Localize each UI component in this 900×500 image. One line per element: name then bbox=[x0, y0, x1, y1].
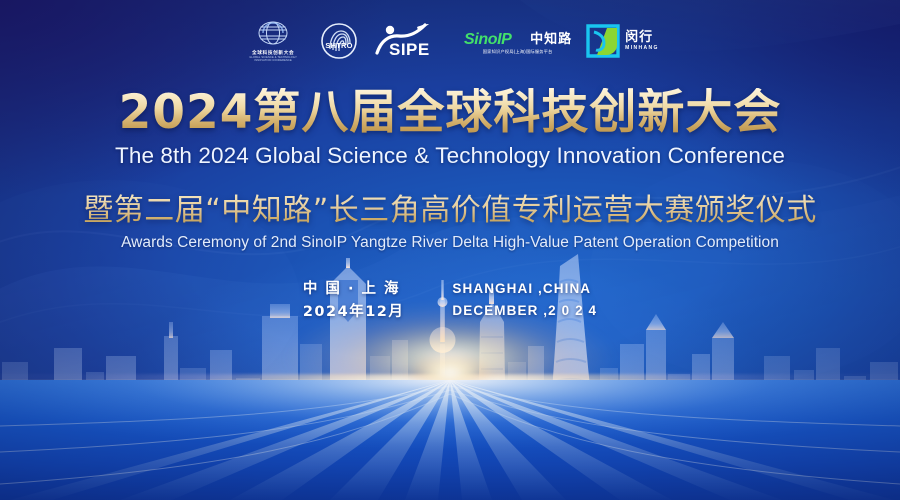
globe-icon bbox=[255, 19, 291, 49]
logo-sipe-wordmark: SIPE bbox=[389, 40, 430, 59]
logo-minhang-label-en: MINHANG bbox=[625, 45, 659, 51]
logo-shtro[interactable]: SHTRO bbox=[319, 18, 359, 64]
venue-city-cn: 中 国 · 上 海 bbox=[303, 278, 405, 300]
venue-block: 中 国 · 上 海 2024年12月 SHANGHAI ,CHINA DECEM… bbox=[0, 278, 900, 323]
sponsor-logo-bar: 全球科技创新大会 GLOBAL SCIENCE & TECHNOLOGY INN… bbox=[0, 18, 900, 64]
logo-sinoip[interactable]: SinoIP 中知路 国家知识产权局(上海)国际服务平台 bbox=[463, 18, 572, 64]
logo-1-label-en: GLOBAL SCIENCE & TECHNOLOGY INNOVATION C… bbox=[241, 57, 305, 63]
logo-sinoip-label-cn: 中知路 bbox=[530, 28, 572, 47]
fingerprint-globe-icon: SHTRO bbox=[319, 21, 359, 61]
page-subtitle-en: Awards Ceremony of 2nd SinoIP Yangtze Ri… bbox=[0, 234, 900, 252]
sinoip-wordmark-icon: SinoIP bbox=[463, 28, 525, 48]
venue-city-en: SHANGHAI ,CHINA bbox=[452, 278, 597, 300]
logo-minhang-label-cn: 闵行 bbox=[625, 31, 653, 45]
logo-sinoip-label-sub: 国家知识产权局(上海)国际服务平台 bbox=[483, 49, 553, 55]
conference-poster: 全球科技创新大会 GLOBAL SCIENCE & TECHNOLOGY INN… bbox=[0, 0, 900, 500]
page-title-cn: 2024第八届全球科技创新大会 bbox=[0, 88, 900, 137]
logo-sipe[interactable]: SIPE bbox=[373, 18, 449, 64]
venue-chinese: 中 国 · 上 海 2024年12月 bbox=[303, 278, 405, 323]
page-title-en: The 8th 2024 Global Science & Technology… bbox=[0, 143, 900, 169]
venue-date-cn: 2024年12月 bbox=[303, 301, 405, 323]
svg-text:SinoIP: SinoIP bbox=[464, 31, 512, 48]
logo-global-science-technology-innovation-conference[interactable]: 全球科技创新大会 GLOBAL SCIENCE & TECHNOLOGY INN… bbox=[241, 18, 305, 64]
logo-shtro-wordmark: SHTRO bbox=[326, 41, 353, 50]
page-subtitle-cn: 暨第二届“中知路”长三角高价值专利运营大赛颁奖仪式 bbox=[0, 185, 900, 229]
venue-date-en: DECEMBER ,2 0 2 4 bbox=[452, 300, 597, 322]
venue-english: SHANGHAI ,CHINA DECEMBER ,2 0 2 4 bbox=[452, 278, 597, 321]
athlete-swoosh-icon: SIPE bbox=[373, 23, 449, 59]
logo-minhang[interactable]: 闵行 MINHANG bbox=[586, 18, 659, 64]
minhang-square-icon bbox=[586, 24, 620, 58]
